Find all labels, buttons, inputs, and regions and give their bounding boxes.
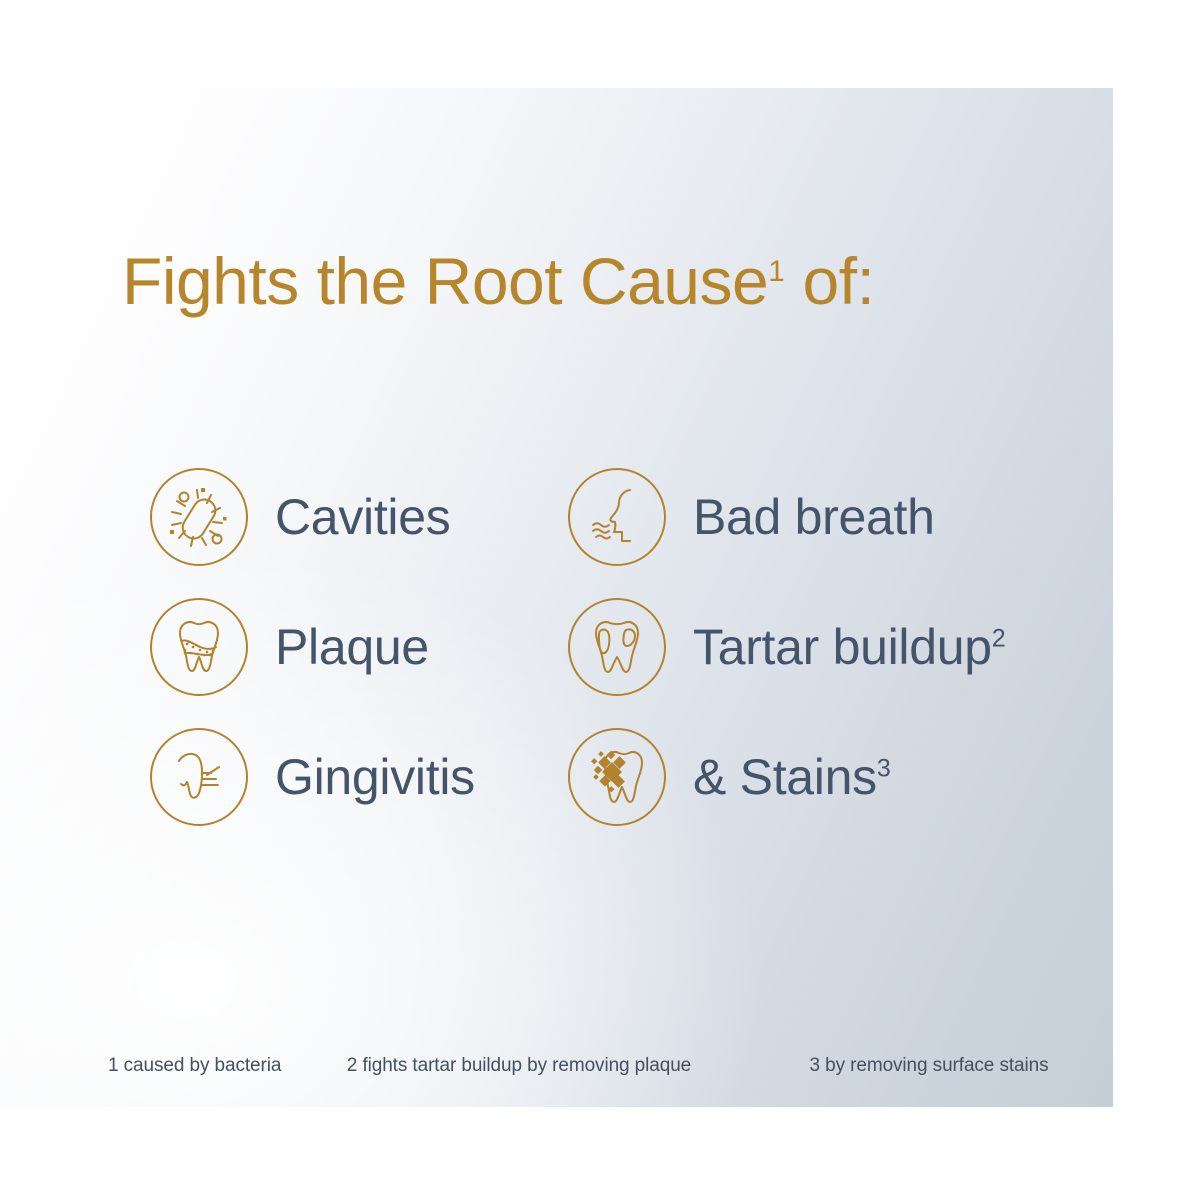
page-title: Fights the Root Cause1 of: — [122, 248, 874, 314]
page-title-suffix: of: — [785, 244, 875, 318]
footnotes: 1 caused by bacteria 2 fights tartar bui… — [108, 1055, 1098, 1077]
benefit-item-bad-breath: Bad breath — [568, 452, 986, 582]
benefit-item-plaque: Plaque — [150, 582, 568, 712]
benefit-item-gingivitis: Gingivitis — [150, 712, 568, 842]
face-breath-icon — [568, 468, 666, 566]
footnote-2: 2 fights tartar buildup by removing plaq… — [347, 1055, 810, 1077]
benefit-label-stains: & Stains3 — [693, 752, 890, 802]
footnote-1: 1 caused by bacteria — [108, 1055, 347, 1077]
benefit-label-plaque: Plaque — [275, 622, 429, 672]
poster-content: Fights the Root Cause1 of: — [0, 0, 1200, 1200]
tooth-tartar-icon — [568, 598, 666, 696]
bacteria-icon — [150, 468, 248, 566]
tooth-plaque-icon — [150, 598, 248, 696]
benefit-item-stains: & Stains3 — [568, 712, 986, 842]
tooth-stains-icon — [568, 728, 666, 826]
tooth-gingivitis-icon — [150, 728, 248, 826]
benefit-item-tartar-buildup: Tartar buildup2 — [568, 582, 986, 712]
benefit-label-cavities: Cavities — [275, 492, 450, 542]
benefit-item-cavities: Cavities — [150, 452, 568, 582]
footnote-3: 3 by removing surface stains — [809, 1055, 1098, 1077]
benefit-label-tartar-buildup: Tartar buildup2 — [693, 622, 1005, 672]
benefits-grid: Cavities Bad breath — [150, 452, 1110, 842]
page-title-superscript: 1 — [768, 255, 785, 288]
page-title-text: Fights the Root Cause — [122, 244, 768, 318]
benefit-label-bad-breath: Bad breath — [693, 492, 935, 542]
poster-root: Fights the Root Cause1 of: — [0, 0, 1200, 1200]
benefit-label-gingivitis: Gingivitis — [275, 752, 475, 802]
